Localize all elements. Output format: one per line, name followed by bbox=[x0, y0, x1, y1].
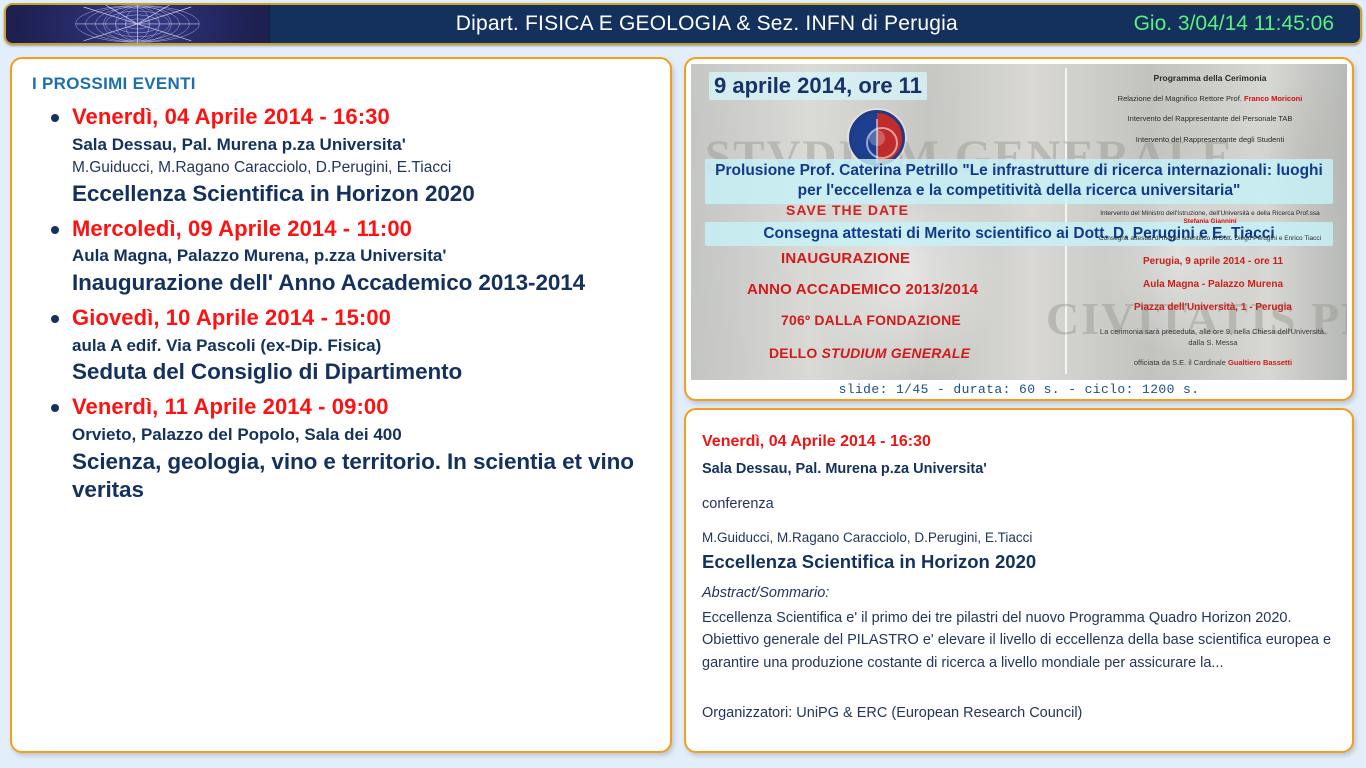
event-title: Scienza, geologia, vino e territorio. In… bbox=[72, 448, 656, 504]
bullet-icon bbox=[51, 114, 59, 122]
event-place: Orvieto, Palazzo del Popolo, Sala dei 40… bbox=[72, 422, 656, 448]
event-date: Mercoledì, 09 Aprile 2014 - 11:00 bbox=[72, 214, 656, 244]
event-place: aula A edif. Via Pascoli (ex-Dip. Fisica… bbox=[72, 333, 656, 359]
event-authors: M.Guiducci, M.Ragano Caracciolo, D.Perug… bbox=[72, 157, 656, 179]
event-title: Eccellenza Scientifica in Horizon 2020 bbox=[72, 180, 656, 208]
detail-abstract: Eccellenza Scientifica e' il primo dei t… bbox=[702, 607, 1336, 674]
list-item[interactable]: Mercoledì, 09 Aprile 2014 - 11:00 Aula M… bbox=[26, 214, 656, 297]
detail-title: Eccellenza Scientifica in Horizon 2020 bbox=[702, 550, 1336, 575]
list-item[interactable]: Giovedì, 10 Aprile 2014 - 15:00 aula A e… bbox=[26, 303, 656, 386]
detail-authors: M.Guiducci, M.Ragano Caracciolo, D.Perug… bbox=[702, 528, 1336, 548]
slide-studium-prefix: DELLO bbox=[769, 345, 822, 361]
slide-inaugurazione: INAUGURAZIONE bbox=[781, 250, 910, 267]
page-root: Dipart. FISICA E GEOLOGIA & Sez. INFN di… bbox=[0, 0, 1366, 768]
event-date: Venerdì, 11 Aprile 2014 - 09:00 bbox=[72, 392, 656, 422]
slide-venue-note-2-name: Gualtiero Bassetti bbox=[1228, 358, 1292, 367]
event-detail-panel: Venerdì, 04 Aprile 2014 - 16:30 Sala Des… bbox=[684, 408, 1354, 753]
slide-studium-generale: DELLO STUDIUM GENERALE bbox=[769, 345, 970, 361]
slide-program-line-text: Intervento del Ministro dell'Istruzione,… bbox=[1100, 210, 1320, 217]
detail-place: Sala Dessau, Pal. Murena p.za Universita… bbox=[702, 458, 1336, 481]
slide-program-line-name: Franco Moriconi bbox=[1244, 94, 1302, 103]
slide-program-line: Consegna attestati di merito scientifico… bbox=[1095, 235, 1325, 243]
slide-venue-note-2-prefix: officiata da S.E. il Cardinale bbox=[1134, 358, 1228, 367]
slide-venue-note-1: La cerimonia sarà preceduta, alle ore 9,… bbox=[1095, 327, 1331, 349]
slide-venue-line: Piazza dell'Università, 1 - Perugia bbox=[1095, 302, 1331, 313]
slide-program-title: Programma della Cerimonia bbox=[1095, 73, 1325, 83]
event-date: Venerdì, 04 Aprile 2014 - 16:30 bbox=[72, 102, 656, 132]
slide-venue-line: Perugia, 9 aprile 2014 - ore 11 bbox=[1095, 256, 1331, 267]
slide-program-line: Intervento del Ministro dell'Istruzione,… bbox=[1095, 210, 1325, 226]
slide-date-banner: 9 aprile 2014, ore 11 bbox=[709, 72, 927, 100]
detail-organizers: Organizzatori: UniPG & ERC (European Res… bbox=[702, 702, 1336, 724]
slide-highlight-prolusione: Prolusione Prof. Caterina Petrillo "Le i… bbox=[705, 159, 1333, 204]
slide-program-column-2: Intervento del Ministro dell'Istruzione,… bbox=[1095, 210, 1325, 243]
slide-caption: slide: 1/45 - durata: 60 s. - ciclo: 120… bbox=[691, 380, 1347, 400]
slide-program-line: Intervento del Rappresentante del Person… bbox=[1095, 114, 1325, 123]
detail-date: Venerdì, 04 Aprile 2014 - 16:30 bbox=[702, 430, 1336, 454]
bullet-icon bbox=[51, 226, 59, 234]
slide-save-the-date: SAVE THE DATE bbox=[786, 202, 909, 218]
detail-abstract-label: Abstract/Sommario: bbox=[702, 585, 1336, 601]
header-clock: Gio. 3/04/14 11:45:06 bbox=[1134, 12, 1360, 36]
app-header: Dipart. FISICA E GEOLOGIA & Sez. INFN di… bbox=[4, 3, 1362, 45]
university-crest-seal-icon bbox=[849, 110, 905, 166]
event-date: Giovedì, 10 Aprile 2014 - 15:00 bbox=[72, 303, 656, 333]
slide-program-line: Relazione del Magnifico Rettore Prof. Fr… bbox=[1095, 94, 1325, 103]
bullet-icon bbox=[51, 404, 59, 412]
slide-program-column: Programma della Cerimonia Relazione del … bbox=[1095, 70, 1325, 144]
slide-fondazione: 706º DALLA FONDAZIONE bbox=[781, 312, 961, 328]
header-title: Dipart. FISICA E GEOLOGIA & Sez. INFN di… bbox=[270, 12, 1134, 36]
particle-detector-image bbox=[6, 5, 270, 43]
detector-tracks-icon bbox=[6, 5, 269, 43]
slideshow-panel[interactable]: STVDIVM GENERALE CIVITATIS PERVSII 9 apr… bbox=[684, 57, 1354, 401]
list-item[interactable]: Venerdì, 11 Aprile 2014 - 09:00 Orvieto,… bbox=[26, 392, 656, 503]
event-place: Sala Dessau, Pal. Murena p.za Universita… bbox=[72, 132, 656, 158]
upcoming-events-panel: I PROSSIMI EVENTI Venerdì, 04 Aprile 201… bbox=[10, 57, 672, 753]
events-panel-heading: I PROSSIMI EVENTI bbox=[32, 74, 656, 94]
slide-anno-accademico: ANNO ACCADEMICO 2013/2014 bbox=[747, 281, 978, 298]
slide-program-line-name: Stefania Giannini bbox=[1183, 218, 1236, 225]
slide-program-line: Intervento del Rappresentante degli Stud… bbox=[1095, 135, 1325, 144]
slide-column-divider bbox=[1065, 68, 1067, 374]
detail-type: conferenza bbox=[702, 493, 1336, 516]
event-place: Aula Magna, Palazzo Murena, p.zza Univer… bbox=[72, 243, 656, 269]
slide-program-line-text: Relazione del Magnifico Rettore Prof. bbox=[1118, 94, 1244, 103]
event-title: Inaugurazione dell' Anno Accademico 2013… bbox=[72, 269, 656, 297]
slide-venue-line: Aula Magna - Palazzo Murena bbox=[1095, 279, 1331, 290]
event-title: Seduta del Consiglio di Dipartimento bbox=[72, 358, 656, 386]
slide-studium-italic: STUDIUM GENERALE bbox=[822, 345, 971, 361]
slide-image[interactable]: STVDIVM GENERALE CIVITATIS PERVSII 9 apr… bbox=[691, 64, 1347, 380]
slide-venue-column: Perugia, 9 aprile 2014 - ore 11 Aula Mag… bbox=[1095, 244, 1331, 369]
list-item[interactable]: Venerdì, 04 Aprile 2014 - 16:30 Sala Des… bbox=[26, 102, 656, 208]
bullet-icon bbox=[51, 315, 59, 323]
slide-venue-note-2: officiata da S.E. il Cardinale Gualtiero… bbox=[1095, 358, 1331, 369]
